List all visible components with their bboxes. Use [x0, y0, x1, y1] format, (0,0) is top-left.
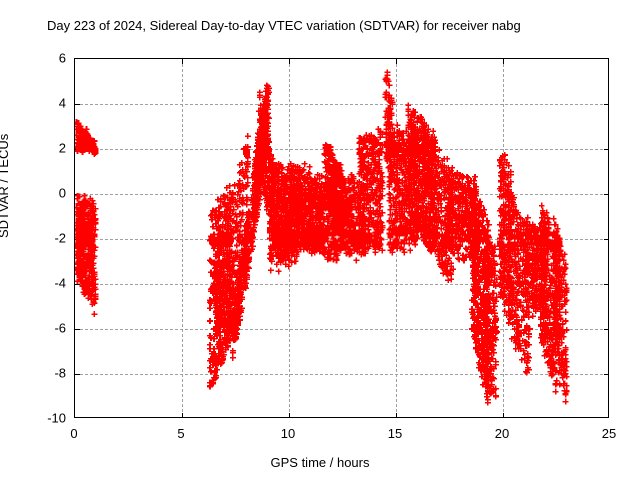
chart-page: Day 223 of 2024, Sidereal Day-to-day VTE…: [0, 0, 640, 480]
gridline-horizontal: [75, 194, 608, 195]
scatter-points: [75, 59, 608, 417]
y-tick-label: -8: [26, 366, 66, 381]
x-tick-label: 25: [589, 426, 629, 441]
tick-mark: [75, 149, 80, 150]
gridline-horizontal: [75, 329, 608, 330]
tick-mark: [604, 329, 609, 330]
tick-mark: [182, 59, 183, 64]
tick-mark: [289, 59, 290, 64]
tick-mark: [396, 59, 397, 64]
gridline-horizontal: [75, 149, 608, 150]
x-tick-label: 15: [375, 426, 415, 441]
y-tick-label: -4: [26, 276, 66, 291]
y-tick-label: 0: [26, 186, 66, 201]
data-marker-set: [75, 69, 570, 405]
tick-mark: [182, 413, 183, 418]
x-axis-label: GPS time / hours: [0, 455, 640, 470]
gridline-horizontal: [75, 104, 608, 105]
gridline-horizontal: [75, 374, 608, 375]
gridline-vertical: [396, 59, 397, 417]
tick-mark: [75, 104, 80, 105]
x-tick-label: 10: [268, 426, 308, 441]
tick-mark: [604, 194, 609, 195]
tick-mark: [396, 413, 397, 418]
y-tick-label: -2: [26, 231, 66, 246]
tick-mark: [503, 413, 504, 418]
tick-mark: [604, 239, 609, 240]
plot-area: [74, 58, 609, 418]
y-tick-label: 2: [26, 141, 66, 156]
tick-mark: [604, 374, 609, 375]
tick-mark: [503, 59, 504, 64]
y-tick-label: -10: [26, 411, 66, 426]
y-tick-label: -6: [26, 321, 66, 336]
page-title: Day 223 of 2024, Sidereal Day-to-day VTE…: [47, 18, 521, 33]
x-tick-label: 0: [54, 426, 94, 441]
tick-mark: [604, 284, 609, 285]
y-tick-label: 4: [26, 96, 66, 111]
y-axis-label: SDTVAR / TECUs: [0, 134, 11, 238]
x-tick-label: 20: [482, 426, 522, 441]
y-tick-label: 6: [26, 51, 66, 66]
gridlines: [75, 59, 608, 417]
gridline-vertical: [182, 59, 183, 417]
tick-mark: [75, 239, 80, 240]
gridline-horizontal: [75, 239, 608, 240]
x-tick-label: 5: [161, 426, 201, 441]
tick-mark: [289, 413, 290, 418]
tick-mark: [75, 284, 80, 285]
tick-mark: [75, 329, 80, 330]
tick-mark: [604, 104, 609, 105]
gridline-vertical: [289, 59, 290, 417]
gridline-vertical: [503, 59, 504, 417]
tick-mark: [75, 374, 80, 375]
gridline-horizontal: [75, 284, 608, 285]
tick-marks: [75, 59, 608, 417]
tick-mark: [604, 149, 609, 150]
tick-mark: [75, 194, 80, 195]
